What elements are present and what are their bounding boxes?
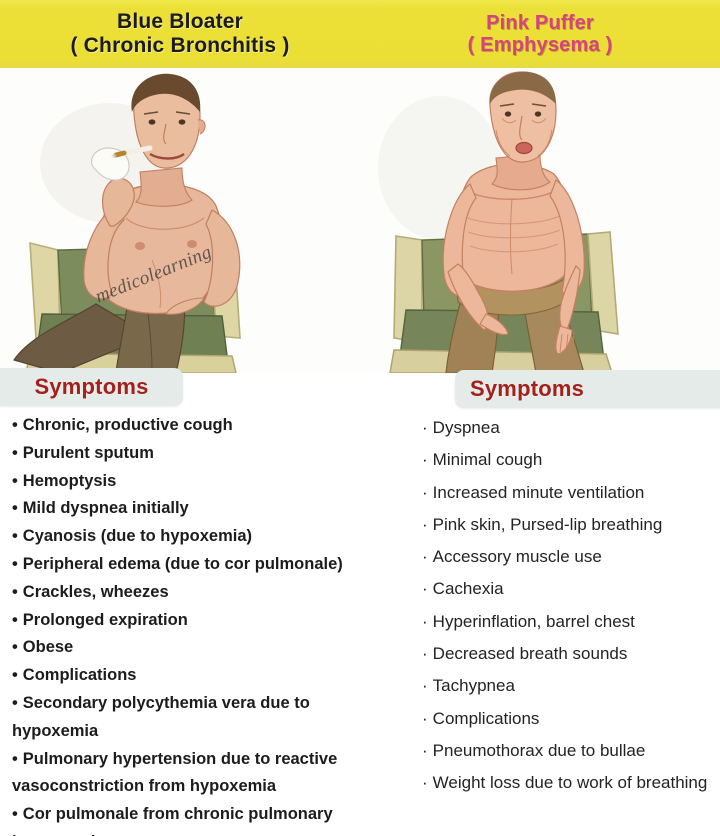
list-item: •Chronic, productive cough	[12, 412, 394, 440]
list-item: •Peripheral edema (due to cor pulmonale)	[12, 551, 394, 579]
symptoms-heading-left: Symptoms	[34, 374, 148, 400]
list-item: •Cor pulmonale from chronic pulmonary hy…	[12, 801, 394, 836]
list-item: •Obese	[12, 634, 394, 662]
bullet-icon: ·	[422, 773, 428, 792]
pink-puffer-figure-icon	[360, 68, 720, 373]
symptoms-band-left: Symptoms	[0, 368, 183, 406]
bullet-icon: ·	[422, 612, 428, 631]
list-item-label: Complications	[433, 709, 540, 728]
bullet-icon: •	[12, 666, 18, 684]
bullet-icon: •	[12, 611, 18, 629]
header-left-title: Blue Bloater	[117, 10, 243, 34]
header-right-title: Pink Puffer	[486, 12, 594, 34]
list-item-label: Cor pulmonale from chronic pulmonary hyp…	[12, 805, 333, 836]
list-item-label: Hemoptysis	[23, 472, 117, 490]
bullet-icon: ·	[422, 644, 428, 663]
list-item: ·Minimal cough	[422, 444, 720, 476]
list-item-label: Purulent sputum	[23, 444, 154, 462]
bullet-icon: ·	[422, 483, 428, 502]
list-item: •Complications	[12, 662, 394, 690]
list-item-label: Decreased breath sounds	[433, 644, 628, 663]
illustration-blue-bloater: medicolearning	[0, 68, 360, 373]
bullet-icon: ·	[422, 450, 428, 469]
blue-bloater-figure-icon	[0, 68, 360, 373]
symptoms-heading-right: Symptoms	[470, 376, 584, 402]
header-left-subtitle: ( Chronic Bronchitis )	[70, 34, 289, 58]
bullet-icon: ·	[422, 547, 428, 566]
list-item: ·Pink skin, Pursed-lip breathing	[422, 509, 720, 541]
list-item: •Prolonged expiration	[12, 607, 394, 635]
bullet-icon: •	[12, 805, 18, 823]
bullet-icon: ·	[422, 676, 428, 695]
illustration-pink-puffer: medicolearning	[360, 68, 720, 373]
list-item-label: Chronic, productive cough	[23, 416, 233, 434]
bullet-icon: •	[12, 444, 18, 462]
list-item-label: Peripheral edema (due to cor pulmonale)	[23, 555, 343, 573]
list-item-label: Crackles, wheezes	[23, 583, 169, 601]
list-item-label: Minimal cough	[433, 450, 543, 469]
list-item-label: Complications	[23, 666, 137, 684]
list-item: •Pulmonary hypertension due to reactive …	[12, 746, 394, 802]
list-item-label: Prolonged expiration	[23, 611, 188, 629]
list-item: ·Weight loss due to work of breathing	[422, 767, 720, 799]
bullet-icon: •	[12, 694, 18, 712]
list-item: •Secondary polycythemia vera due to hypo…	[12, 690, 394, 746]
bullet-icon: •	[12, 638, 18, 656]
list-item: ·Increased minute ventilation	[422, 477, 720, 509]
bullet-icon: •	[12, 416, 18, 434]
list-item-label: Cyanosis (due to hypoxemia)	[23, 527, 252, 545]
symptoms-list-left: •Chronic, productive cough•Purulent sput…	[12, 412, 394, 836]
list-item-label: Pink skin, Pursed-lip breathing	[433, 515, 663, 534]
list-item: ·Accessory muscle use	[422, 541, 720, 573]
list-item-label: Cachexia	[433, 579, 504, 598]
list-item: ·Hyperinflation, barrel chest	[422, 606, 720, 638]
list-item: •Cyanosis (due to hypoxemia)	[12, 523, 394, 551]
list-item-label: Mild dyspnea initially	[23, 499, 189, 517]
bullet-icon: ·	[422, 515, 428, 534]
list-item-label: Hyperinflation, barrel chest	[433, 612, 635, 631]
bullet-icon: ·	[422, 741, 428, 760]
bullet-icon: •	[12, 527, 18, 545]
bullet-icon: •	[12, 750, 18, 768]
list-item-label: Pulmonary hypertension due to reactive v…	[12, 750, 337, 796]
header-band: Blue Bloater ( Chronic Bronchitis ) Pink…	[0, 0, 720, 68]
bullet-icon: ·	[422, 418, 428, 437]
list-item: •Mild dyspnea initially	[12, 495, 394, 523]
list-item: •Hemoptysis	[12, 468, 394, 496]
list-item-label: Secondary polycythemia vera due to hypox…	[12, 694, 310, 740]
list-item-label: Obese	[23, 638, 73, 656]
list-item: •Crackles, wheezes	[12, 579, 394, 607]
list-item: ·Cachexia	[422, 573, 720, 605]
header-left: Blue Bloater ( Chronic Bronchitis )	[0, 0, 360, 68]
list-item-label: Increased minute ventilation	[433, 483, 645, 502]
bullet-icon: ·	[422, 709, 428, 728]
list-item-label: Weight loss due to work of breathing	[433, 773, 708, 792]
header-right: Pink Puffer ( Emphysema )	[360, 0, 720, 68]
symptoms-list-right: ·Dyspnea·Minimal cough·Increased minute …	[422, 412, 720, 836]
list-item: •Purulent sputum	[12, 440, 394, 468]
bullet-icon: ·	[422, 579, 428, 598]
list-item: ·Decreased breath sounds	[422, 638, 720, 670]
list-item-label: Dyspnea	[433, 418, 500, 437]
bullet-icon: •	[12, 499, 18, 517]
list-item: ·Tachypnea	[422, 670, 720, 702]
list-item-label: Tachypnea	[433, 676, 515, 695]
bullet-icon: •	[12, 555, 18, 573]
header-right-subtitle: ( Emphysema )	[468, 34, 613, 56]
list-item: ·Pneumothorax due to bullae	[422, 735, 720, 767]
list-item-label: Pneumothorax due to bullae	[433, 741, 646, 760]
bullet-icon: •	[12, 583, 18, 601]
list-item: ·Dyspnea	[422, 412, 720, 444]
symptoms-band-right: Symptoms	[455, 370, 720, 408]
bullet-icon: •	[12, 472, 18, 490]
list-item-label: Accessory muscle use	[433, 547, 602, 566]
illustration-row: medicolearning	[0, 68, 720, 373]
list-item: ·Complications	[422, 703, 720, 735]
